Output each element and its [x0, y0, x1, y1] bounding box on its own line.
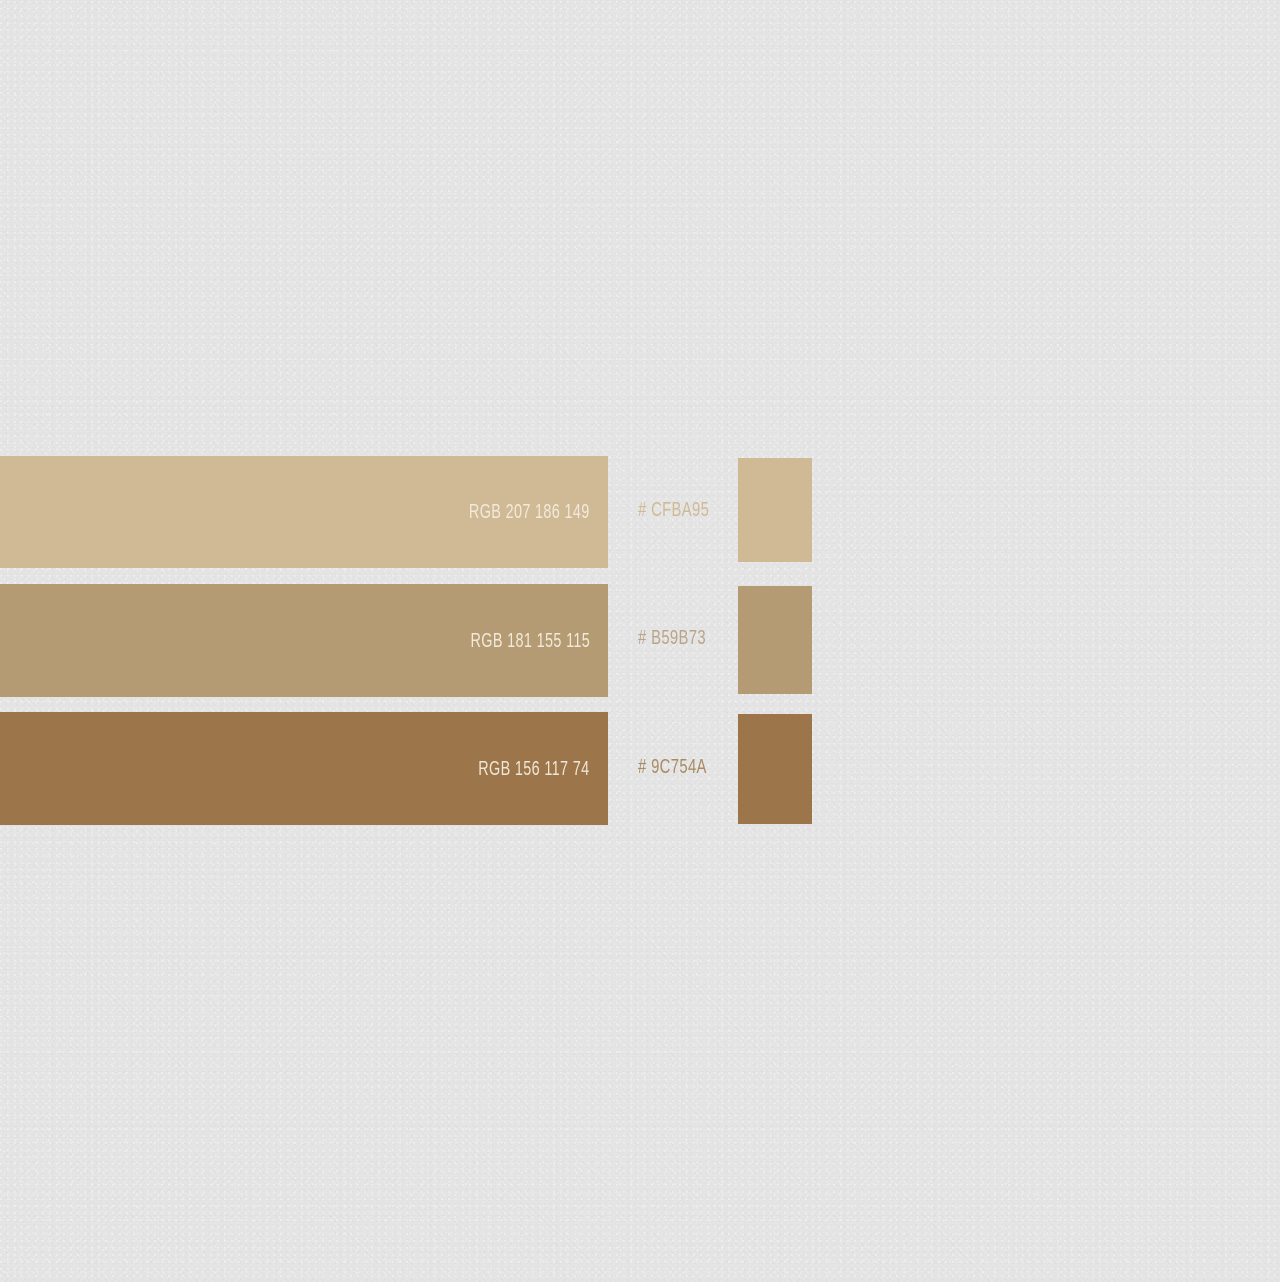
- hex-value-label: # CFBA95: [638, 500, 709, 520]
- hex-value-label: # 9C754A: [638, 757, 707, 777]
- color-chip[interactable]: [738, 458, 812, 562]
- hex-value-label: # B59B73: [638, 628, 706, 648]
- color-chip[interactable]: [738, 586, 812, 694]
- rgb-value-label: RGB 207 186 149: [469, 502, 590, 522]
- page-canvas: RGB 207 186 149# CFBA95RGB 181 155 115# …: [0, 0, 1280, 1282]
- color-chip[interactable]: [738, 714, 812, 824]
- rgb-value-label: RGB 181 155 115: [470, 631, 590, 651]
- color-bar[interactable]: RGB 181 155 115: [0, 584, 608, 697]
- color-bar[interactable]: RGB 207 186 149: [0, 456, 608, 568]
- rgb-value-label: RGB 156 117 74: [479, 759, 590, 779]
- color-bar[interactable]: RGB 156 117 74: [0, 712, 608, 825]
